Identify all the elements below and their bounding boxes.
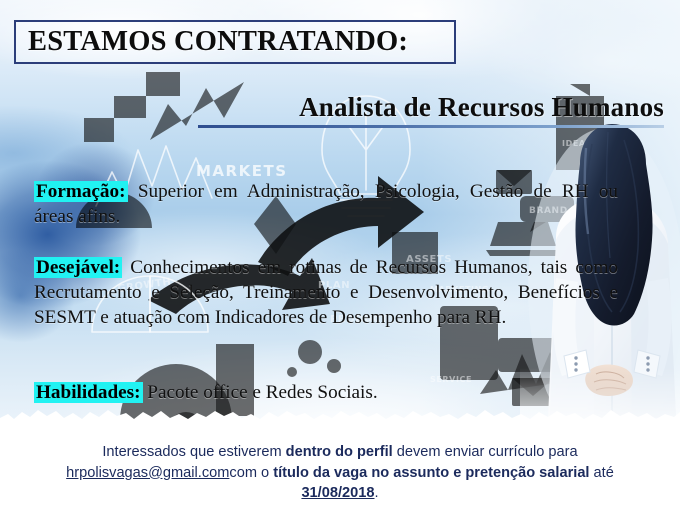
deadline-period: . <box>374 485 378 501</box>
poster-content: ESTAMOS CONTRATANDO: Analista de Recurso… <box>0 0 680 510</box>
requirement-label-habilidades: Habilidades: <box>34 382 143 403</box>
requirement-label-desejavel: Desejável: <box>34 257 122 278</box>
requirement-text-habilidades: Pacote office e Redes Sociais. <box>147 382 377 403</box>
job-title-group: Analista de Recursos Humanos <box>198 92 664 128</box>
requirement-desejavel: Desejável: Conhecimentos em rotinas de R… <box>34 256 618 331</box>
application-deadline: 31/08/2018 <box>301 485 374 501</box>
contact-email[interactable]: hrpolisvagas@gmail.com <box>66 465 229 481</box>
contact-block: Interessados que estiverem dentro do per… <box>0 442 680 504</box>
job-title: Analista de Recursos Humanos <box>198 92 664 123</box>
contact-line2-part2: até <box>590 465 614 481</box>
contact-line1-part2: devem enviar currículo para <box>393 444 578 460</box>
contact-line2-part1: com o <box>229 465 273 481</box>
contact-line-3: 31/08/2018. <box>0 483 680 504</box>
requirement-label-formacao: Formação: <box>34 181 128 202</box>
job-ad-poster: BRAND <box>0 0 680 510</box>
contact-line2-bold: título da vaga no assunto e pretenção sa… <box>273 465 589 481</box>
contact-line1-part1: Interessados que estiverem <box>102 444 285 460</box>
requirement-habilidades: Habilidades: Pacote office e Redes Socia… <box>34 381 618 406</box>
requirement-formacao: Formação: Superior em Administração, Psi… <box>34 180 618 230</box>
contact-line-1: Interessados que estiverem dentro do per… <box>0 442 680 463</box>
headline-box: ESTAMOS CONTRATANDO: <box>14 20 456 64</box>
headline-text: ESTAMOS CONTRATANDO: <box>28 26 408 58</box>
contact-line-2: hrpolisvagas@gmail.comcom o título da va… <box>0 463 680 484</box>
job-title-underline <box>198 125 664 128</box>
contact-line1-bold: dentro do perfil <box>286 444 393 460</box>
